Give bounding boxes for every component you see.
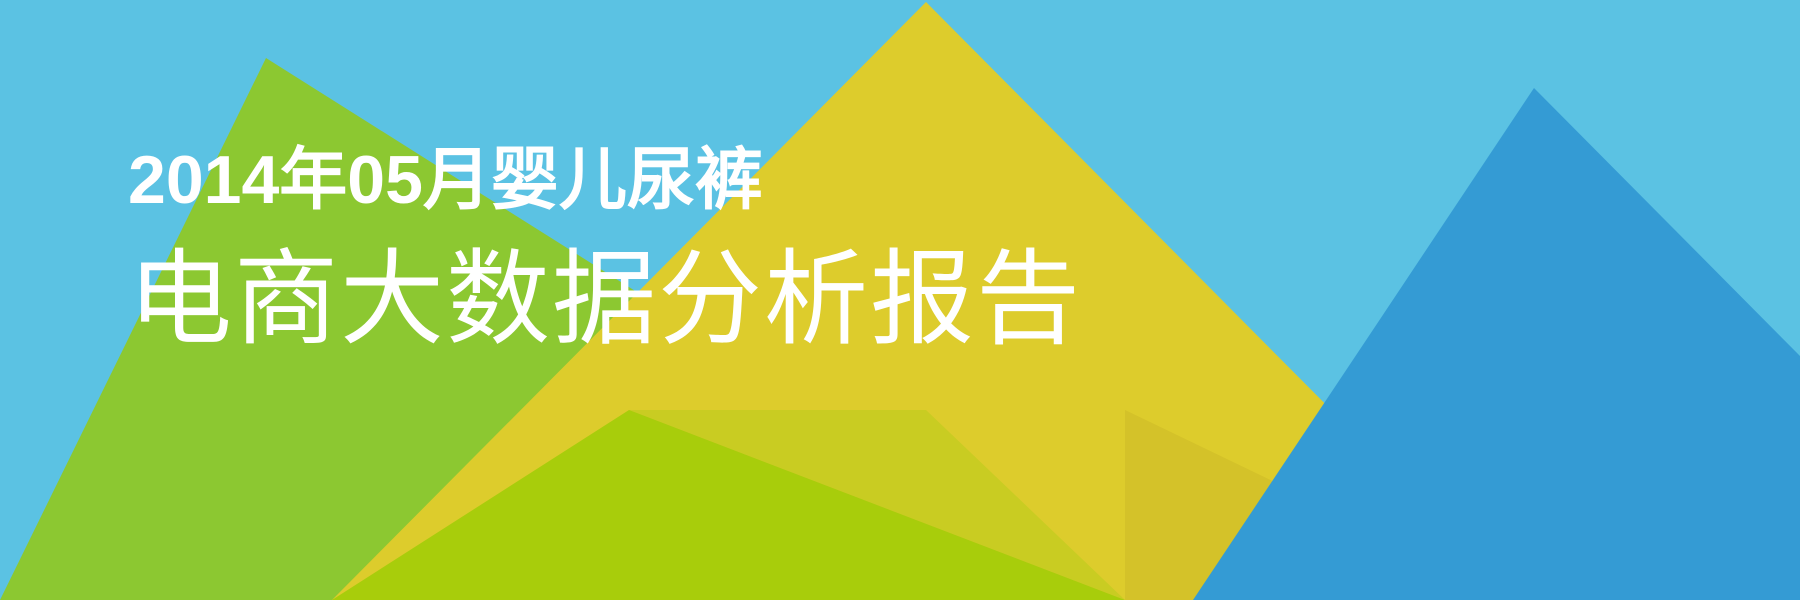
report-cover-banner: 2014年05月婴儿尿裤 电商大数据分析报告 — [0, 0, 1800, 600]
background-geometric-artwork — [0, 0, 1800, 600]
